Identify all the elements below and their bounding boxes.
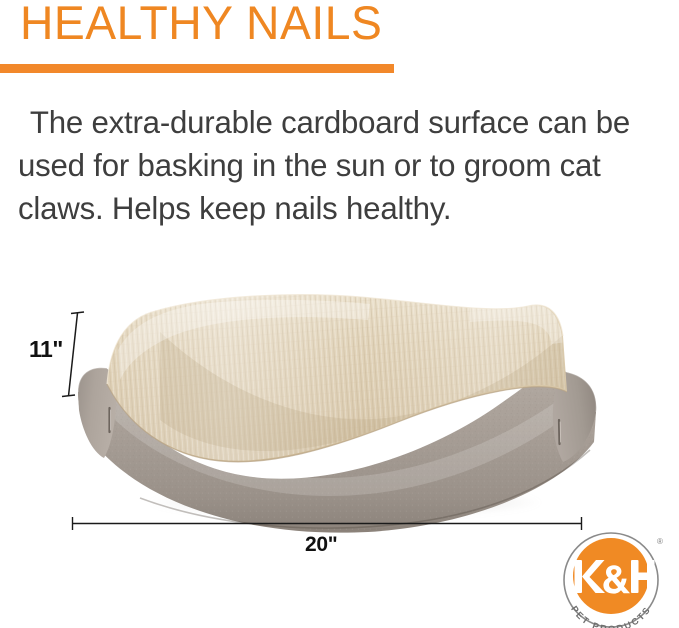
title-underline-rule (0, 64, 394, 73)
description-paragraph: The extra-durable cardboard surface can … (18, 101, 662, 230)
brand-logo-kandh: PET PRODUCTS ® (551, 532, 671, 628)
product-photo-cat-scratcher (0, 280, 679, 540)
registered-trademark-icon: ® (657, 537, 663, 546)
width-dimension-label: 20" (305, 533, 337, 557)
height-dimension-label: 11" (29, 336, 63, 363)
page-title: HEALTHY NAILS (20, 0, 382, 50)
brand-logo-svg: PET PRODUCTS ® (551, 532, 671, 628)
product-illustration (0, 280, 679, 540)
